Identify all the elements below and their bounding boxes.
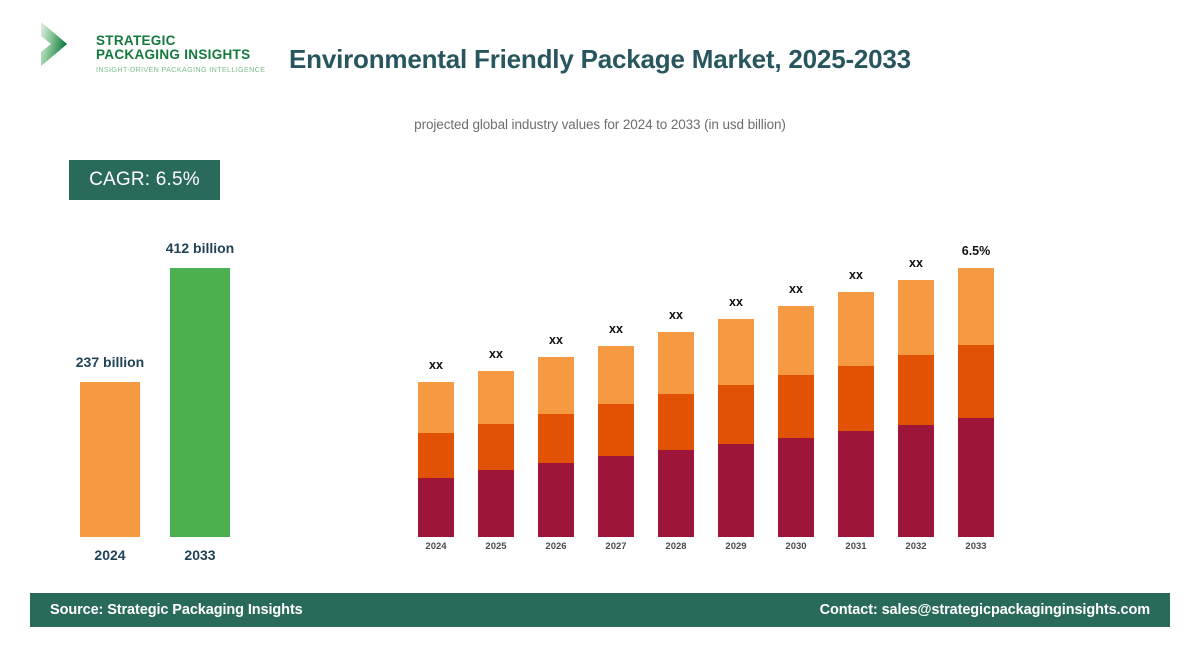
stacked-bar-category: 2028 bbox=[646, 541, 706, 552]
comparison-bar-value: 412 billion bbox=[120, 240, 280, 256]
stacked-bar-top-label: xx bbox=[696, 295, 776, 309]
stacked-bar-segment bbox=[538, 414, 574, 464]
stacked-bar-segment bbox=[538, 357, 574, 414]
stacked-bar-segment bbox=[718, 444, 754, 537]
comparison-bar bbox=[80, 382, 140, 537]
stacked-bar bbox=[958, 268, 994, 537]
stacked-bar bbox=[598, 346, 634, 537]
stacked-bar-category: 2029 bbox=[706, 541, 766, 552]
stacked-bar-segment bbox=[658, 332, 694, 395]
stacked-bar-segment bbox=[418, 382, 454, 433]
stacked-bar-segment bbox=[718, 385, 754, 444]
stacked-bar-segment bbox=[958, 268, 994, 344]
stacked-bar-category: 2024 bbox=[406, 541, 466, 552]
stacked-bar-segment bbox=[598, 346, 634, 404]
stacked-bar-segment bbox=[478, 470, 514, 537]
stacked-bar-segment bbox=[898, 280, 934, 355]
stacked-bar-category: 2030 bbox=[766, 541, 826, 552]
stacked-bar-category: 2033 bbox=[946, 541, 1006, 552]
stacked-bar-top-label: xx bbox=[456, 347, 536, 361]
stacked-bar-segment bbox=[478, 424, 514, 471]
stacked-bar bbox=[538, 357, 574, 537]
stacked-bar-category: 2031 bbox=[826, 541, 886, 552]
stacked-bar-segment bbox=[478, 371, 514, 424]
stacked-bar-segment bbox=[838, 366, 874, 431]
stacked-bar-segment bbox=[718, 319, 754, 386]
footer-source: Source: Strategic Packaging Insights bbox=[50, 593, 303, 627]
stacked-bar-segment bbox=[958, 418, 994, 537]
footer-contact: Contact: sales@strategicpackaginginsight… bbox=[820, 593, 1150, 627]
stacked-bar-segment bbox=[598, 456, 634, 537]
stacked-bar-segment bbox=[418, 433, 454, 477]
stacked-bar-segment bbox=[898, 425, 934, 537]
stacked-bar-top-label: xx bbox=[756, 282, 836, 296]
stacked-bar bbox=[778, 306, 814, 537]
stacked-bar bbox=[658, 332, 694, 537]
stacked-bar bbox=[718, 319, 754, 537]
stacked-bar bbox=[838, 292, 874, 537]
stacked-bar-top-label: xx bbox=[576, 322, 656, 336]
stacked-bar bbox=[418, 382, 454, 537]
stacked-bar-segment bbox=[658, 450, 694, 537]
stacked-bar-category: 2032 bbox=[886, 541, 946, 552]
stacked-bar bbox=[478, 371, 514, 537]
comparison-bar-value: 237 billion bbox=[30, 354, 190, 370]
stacked-bar-segment bbox=[598, 404, 634, 456]
stacked-bar-segment bbox=[658, 394, 694, 449]
stacked-bar-category: 2026 bbox=[526, 541, 586, 552]
stacked-bar-segment bbox=[898, 355, 934, 425]
stacked-bar-segment bbox=[418, 478, 454, 537]
stacked-bar-segment bbox=[778, 375, 814, 438]
footer-bar: Source: Strategic Packaging Insights Con… bbox=[30, 593, 1170, 627]
chart-canvas: 237 billion2024412 billion2033xx2024xx20… bbox=[0, 0, 1200, 650]
stacked-bar-category: 2025 bbox=[466, 541, 526, 552]
stacked-bar-category: 2027 bbox=[586, 541, 646, 552]
stacked-bar bbox=[898, 280, 934, 537]
stacked-bar-segment bbox=[778, 438, 814, 537]
stacked-bar-top-label: 6.5% bbox=[936, 244, 1016, 258]
comparison-bar-category: 2033 bbox=[130, 547, 270, 563]
stacked-bar-segment bbox=[538, 463, 574, 537]
stacked-bar-segment bbox=[958, 345, 994, 419]
comparison-bar bbox=[170, 268, 230, 537]
stacked-bar-top-label: xx bbox=[636, 308, 716, 322]
stacked-bar-segment bbox=[838, 431, 874, 537]
stacked-bar-segment bbox=[838, 292, 874, 366]
stacked-bar-segment bbox=[778, 306, 814, 375]
